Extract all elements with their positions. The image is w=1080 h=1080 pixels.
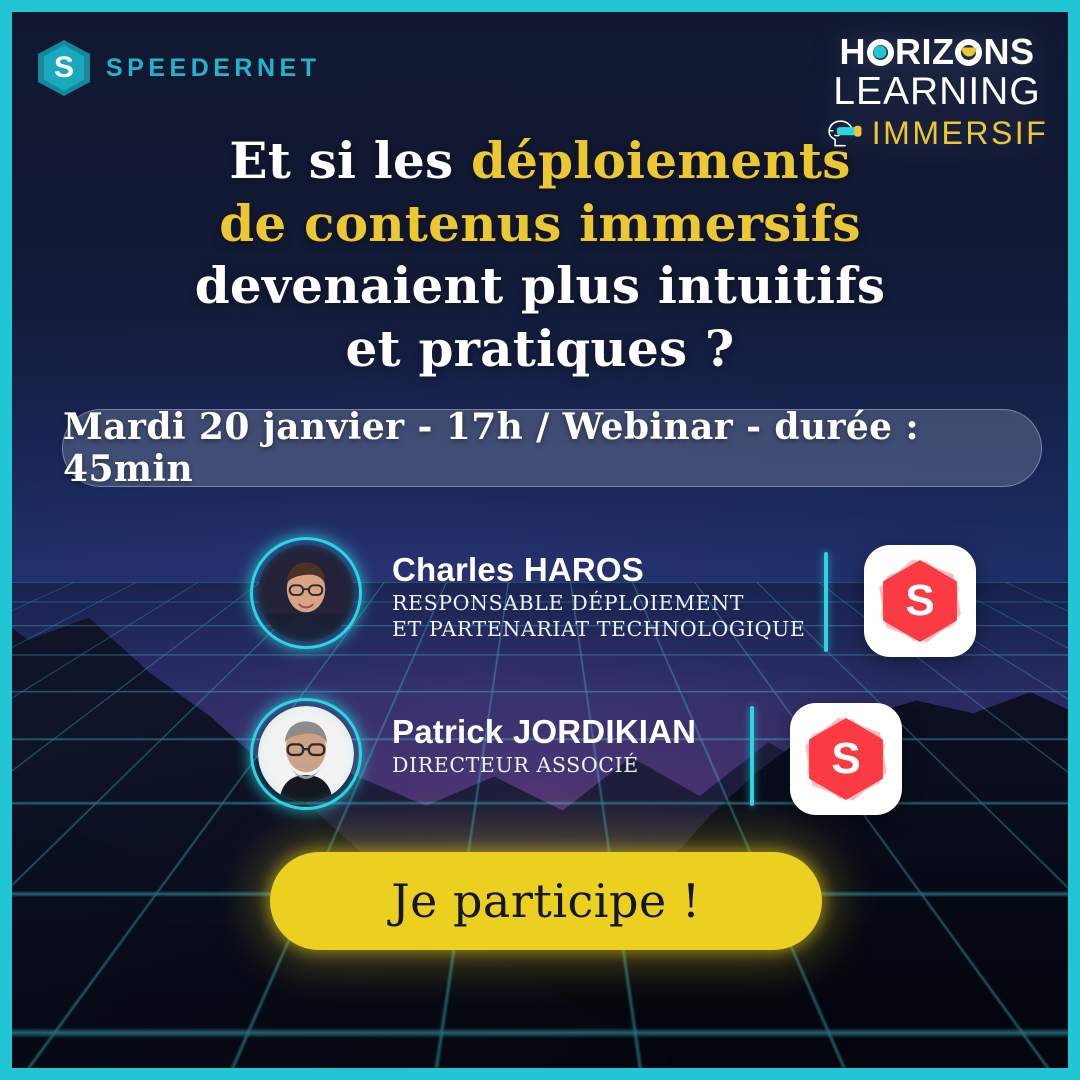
- avatar-glow-ring: [250, 698, 362, 810]
- event-details-text: Mardi 20 janvier - 17h / Webinar - durée…: [63, 406, 1041, 490]
- speaker-name: Patrick JORDIKIAN: [392, 714, 696, 750]
- speaker-info: Charles HAROS RESPONSABLE DÉPLOIEMENT ET…: [392, 552, 805, 643]
- poster-content: S SPEEDERNET H RIZ NS LEARNING: [12, 12, 1068, 1068]
- horizons-part-post: NS: [983, 34, 1034, 70]
- speedernet-badge: S: [790, 703, 902, 815]
- speaker-role-line-2: ET PARTENARIAT TECHNOLOGIQUE: [392, 617, 805, 643]
- horizons-part-pre: H: [839, 34, 866, 70]
- page-title: Et si les déploiements de contenus immer…: [12, 130, 1068, 380]
- brand-mark-letter: S: [38, 40, 90, 96]
- register-button-label: Je participe !: [391, 874, 701, 928]
- speaker-divider: [750, 706, 754, 806]
- speedernet-badge: S: [864, 545, 976, 657]
- teal-dot: [874, 46, 887, 59]
- register-button[interactable]: Je participe !: [270, 852, 822, 950]
- letter-o-gold-dot-icon: [955, 39, 982, 66]
- speaker-role: DIRECTEUR ASSOCIÉ: [392, 753, 696, 779]
- speaker-row: Patrick JORDIKIAN DIRECTEUR ASSOCIÉ S: [12, 688, 1068, 838]
- speaker-divider: [824, 552, 828, 652]
- letter-o-teal-dot-icon: [867, 39, 894, 66]
- horizons-part-mid: RIZ: [895, 34, 955, 70]
- avatar: [250, 537, 362, 649]
- speedernet-hexagon-icon: S: [38, 40, 90, 96]
- title-line-4: et pratiques ?: [12, 318, 1068, 381]
- poster-canvas: S SPEEDERNET H RIZ NS LEARNING: [12, 12, 1068, 1068]
- title-line-1: Et si les déploiements: [12, 130, 1068, 193]
- horizons-wordmark: H RIZ NS: [832, 34, 1042, 70]
- speaker-role: RESPONSABLE DÉPLOIEMENT ET PARTENARIAT T…: [392, 591, 805, 642]
- speaker-info: Patrick JORDIKIAN DIRECTEUR ASSOCIÉ: [392, 714, 696, 779]
- badge-hexagon-icon: S: [879, 560, 961, 642]
- brand-wordmark: SPEEDERNET: [106, 54, 320, 83]
- badge-hexagon-icon: S: [805, 718, 887, 800]
- title-line-2: de contenus immersifs: [12, 193, 1068, 256]
- badge-letter: S: [879, 560, 961, 642]
- speaker-row: Charles HAROS RESPONSABLE DÉPLOIEMENT ET…: [12, 530, 1068, 680]
- webinar-poster: S SPEEDERNET H RIZ NS LEARNING: [0, 0, 1080, 1080]
- speaker-role-line-1: DIRECTEUR ASSOCIÉ: [392, 753, 696, 779]
- speaker-role-line-1: RESPONSABLE DÉPLOIEMENT: [392, 591, 805, 617]
- title-line-3: devenaient plus intuitifs: [12, 255, 1068, 318]
- speakers-list: Charles HAROS RESPONSABLE DÉPLOIEMENT ET…: [12, 530, 1068, 838]
- title-line-1-white: Et si les: [229, 131, 471, 190]
- avatar-glow-ring: [250, 537, 362, 649]
- speaker-name: Charles HAROS: [392, 552, 805, 588]
- speedernet-logo[interactable]: S SPEEDERNET: [38, 40, 320, 96]
- gold-dot: [961, 48, 976, 57]
- learning-wordmark: LEARNING: [832, 72, 1042, 112]
- badge-letter: S: [805, 718, 887, 800]
- event-details-banner: Mardi 20 janvier - 17h / Webinar - durée…: [62, 409, 1042, 487]
- title-line-1-highlight: déploiements: [471, 131, 851, 190]
- avatar: [250, 698, 362, 810]
